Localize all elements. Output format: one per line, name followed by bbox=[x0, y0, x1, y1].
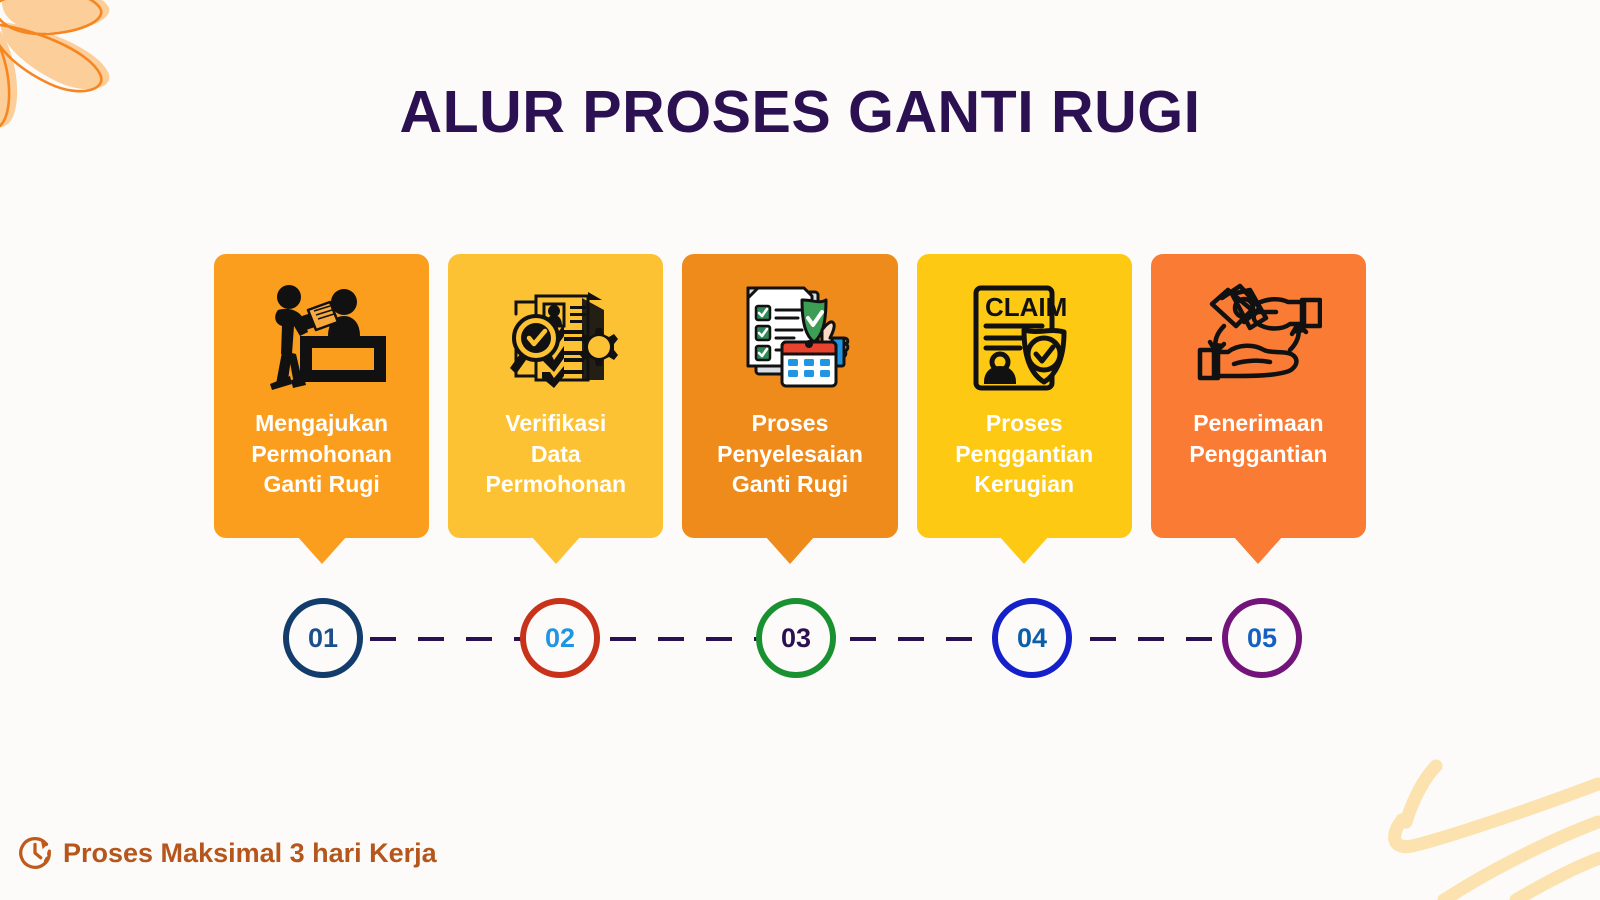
step-number: 03 bbox=[781, 623, 811, 654]
step-number-track: 01 02 03 04 05 bbox=[214, 598, 1366, 680]
clock-arrow-icon bbox=[14, 832, 56, 874]
magnifier-checkmark-document-gear-icon bbox=[492, 280, 620, 398]
step-circle-05[interactable]: 05 bbox=[1222, 598, 1302, 678]
footer-note: Proses Maksimal 3 hari Kerja bbox=[14, 832, 437, 874]
person-submitting-document-at-counter-icon bbox=[258, 280, 386, 398]
hands-exchanging-money-icon bbox=[1194, 280, 1322, 398]
footer-text: Proses Maksimal 3 hari Kerja bbox=[63, 838, 437, 869]
step-card-02[interactable]: Verifikasi Data Permohonan bbox=[448, 254, 663, 538]
step-circle-02[interactable]: 02 bbox=[520, 598, 600, 678]
step-card-05[interactable]: Penerimaan Penggantian bbox=[1151, 254, 1366, 538]
step-card-03[interactable]: Proses Penyelesaian Ganti Rugi bbox=[682, 254, 897, 538]
step-circle-04[interactable]: 04 bbox=[992, 598, 1072, 678]
step-card-label: Penerimaan Penggantian bbox=[1183, 408, 1333, 469]
step-card-label: Verifikasi Data Permohonan bbox=[480, 408, 633, 500]
step-circle-01[interactable]: 01 bbox=[283, 598, 363, 678]
step-card-label: Mengajukan Permohonan Ganti Rugi bbox=[245, 408, 398, 500]
step-number: 01 bbox=[308, 623, 338, 654]
checklist-shield-calculator-thumbsup-icon bbox=[726, 280, 854, 398]
step-number: 05 bbox=[1247, 623, 1277, 654]
svg-text:CLAIM: CLAIM bbox=[985, 292, 1067, 322]
steps-card-row: Mengajukan Permohonan Ganti Rugi bbox=[214, 254, 1366, 544]
step-card-label: Proses Penyelesaian Ganti Rugi bbox=[711, 408, 869, 500]
infographic-canvas: ALUR PROSES GANTI RUGI bbox=[0, 0, 1600, 900]
step-number: 04 bbox=[1017, 623, 1047, 654]
step-card-01[interactable]: Mengajukan Permohonan Ganti Rugi bbox=[214, 254, 429, 538]
step-card-label: Proses Penggantian Kerugian bbox=[949, 408, 1099, 500]
step-circle-03[interactable]: 03 bbox=[756, 598, 836, 678]
page-title: ALUR PROSES GANTI RUGI bbox=[0, 78, 1600, 146]
step-number: 02 bbox=[545, 623, 575, 654]
step-card-04[interactable]: CLAIM Proses Penggantian Kerugian bbox=[917, 254, 1132, 538]
zigzag-scribble-decoration bbox=[1340, 710, 1600, 900]
claim-document-shield-check-icon: CLAIM bbox=[960, 280, 1088, 398]
